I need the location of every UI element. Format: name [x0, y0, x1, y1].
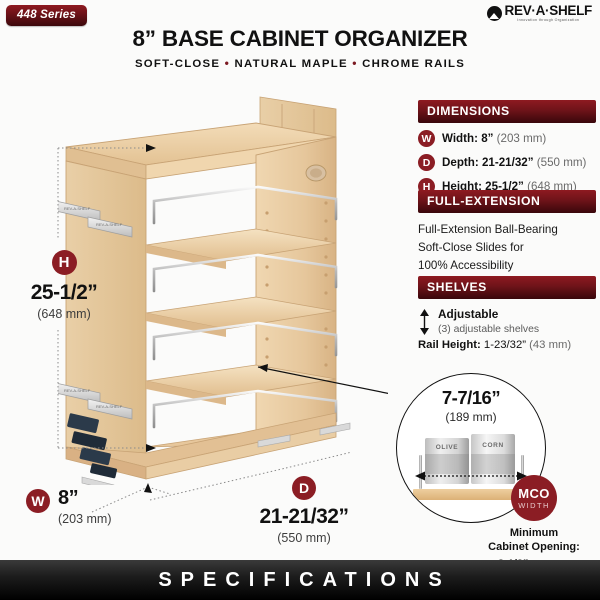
- subtitle-feature-2: NATURAL MAPLE: [235, 58, 348, 70]
- depth-letter-icon: D: [418, 154, 435, 171]
- width-value: 8”: [58, 487, 111, 510]
- subtitle-separator-2: •: [352, 56, 357, 70]
- full-extension-line-3: 100% Accessibility: [418, 257, 596, 275]
- full-extension-line-1: Full-Extension Ball-Bearing: [418, 221, 596, 239]
- page-subtitle: SOFT-CLOSE • NATURAL MAPLE • CHROME RAIL…: [95, 56, 505, 70]
- depth-dimension-label: D 21-21/32” (550 mm): [224, 476, 384, 545]
- dimensions-width-metric: (203 mm): [497, 132, 547, 145]
- mco-badge-icon: MCO WIDTH: [511, 475, 557, 521]
- specifications-banner-text: SPECIFICATIONS: [149, 569, 450, 592]
- dimensions-depth-metric: (550 mm): [537, 156, 587, 169]
- height-value: 25-1/2”: [0, 281, 128, 305]
- mco-caption-line-1: Minimum: [510, 527, 558, 539]
- brand-tagline: Innovation through Organization: [505, 19, 592, 23]
- dimensions-width-value: 8”: [481, 132, 493, 145]
- full-extension-body: Full-Extension Ball-Bearing Soft-Close S…: [418, 221, 596, 275]
- depth-metric: (550 mm): [224, 531, 384, 545]
- height-metric: (648 mm): [0, 307, 128, 321]
- adjustable-text-group: Adjustable (3) adjustable shelves: [438, 308, 539, 335]
- rail-height-row: Rail Height: 1-23/32” (43 mm): [418, 339, 596, 351]
- width-guide-right: [148, 487, 170, 494]
- adjustable-row: Adjustable (3) adjustable shelves: [418, 308, 596, 335]
- svg-text:REV-A-SHELF: REV-A-SHELF: [96, 404, 123, 409]
- dimensions-depth-value: 21-21/32”: [482, 156, 534, 169]
- dimensions-panel-heading: DIMENSIONS: [418, 100, 596, 123]
- dimensions-depth-label: Depth:: [442, 156, 479, 169]
- dimensions-width-text: Width: 8” (203 mm): [442, 132, 546, 145]
- callout-value: 7-7/16”: [397, 387, 545, 409]
- full-extension-panel-heading: FULL-EXTENSION: [418, 190, 596, 213]
- mco-block: MCO WIDTH Minimum Cabinet Opening: 8-1/2…: [480, 475, 588, 570]
- full-extension-line-2: Soft-Close Slides for: [418, 239, 596, 257]
- dimensions-row-depth: D Depth: 21-21/32” (550 mm): [418, 154, 596, 171]
- dimensions-width-label: Width:: [442, 132, 478, 145]
- svg-text:REV-A-SHELF: REV-A-SHELF: [96, 222, 123, 227]
- height-badge-icon: H: [52, 250, 77, 275]
- depth-badge-icon: D: [292, 476, 316, 500]
- shelves-panel: SHELVES Adjustable (3) adjustable shelve…: [418, 276, 596, 351]
- depth-value: 21-21/32”: [224, 505, 384, 529]
- width-text-group: 8” (203 mm): [58, 487, 111, 526]
- mco-caption: Minimum Cabinet Opening:: [480, 527, 588, 555]
- width-badge-icon: W: [26, 489, 50, 513]
- width-dimension-label: W 8” (203 mm): [26, 487, 111, 526]
- adjustable-subtitle: (3) adjustable shelves: [438, 324, 539, 335]
- svg-text:REV-A-SHELF: REV-A-SHELF: [64, 206, 91, 211]
- adjustable-title: Adjustable: [438, 308, 539, 322]
- dimensions-row-width: W Width: 8” (203 mm): [418, 130, 596, 147]
- dimensions-panel: DIMENSIONS W Width: 8” (203 mm) D Depth:…: [418, 100, 596, 195]
- mco-badge-top: MCO: [518, 487, 550, 500]
- subtitle-separator-1: •: [225, 56, 230, 70]
- can-olive-label: OLIVE: [425, 444, 469, 451]
- brand-name: REV·A·SHELF: [505, 4, 592, 18]
- rail-height-value: 1-23/32”: [484, 339, 526, 351]
- spec-sheet-page: 448 Series REV·A·SHELF Innovation throug…: [0, 0, 600, 600]
- full-extension-panel: FULL-EXTENSION Full-Extension Ball-Beari…: [418, 190, 596, 275]
- up-down-arrow-icon: [418, 309, 431, 335]
- page-title: 8” BASE CABINET ORGANIZER: [95, 27, 505, 51]
- brand-text-group: REV·A·SHELF Innovation through Organizat…: [505, 4, 592, 23]
- subtitle-feature-3: CHROME RAILS: [362, 58, 465, 70]
- svg-text:REV-A-SHELF: REV-A-SHELF: [64, 388, 91, 393]
- series-badge: 448 Series: [6, 5, 87, 26]
- width-letter-icon: W: [418, 130, 435, 147]
- title-block: 8” BASE CABINET ORGANIZER SOFT-CLOSE • N…: [95, 27, 505, 70]
- specifications-banner: SPECIFICATIONS: [0, 560, 600, 600]
- rail-height-metric: (43 mm): [529, 339, 571, 351]
- rev-a-shelf-mark-icon: [487, 6, 502, 21]
- dimensions-depth-text: Depth: 21-21/32” (550 mm): [442, 156, 586, 169]
- mco-badge-bottom: WIDTH: [518, 502, 550, 510]
- brand-logo: REV·A·SHELF Innovation through Organizat…: [487, 4, 592, 23]
- shelves-panel-heading: SHELVES: [418, 276, 596, 299]
- shelves-body: Adjustable (3) adjustable shelves Rail H…: [418, 308, 596, 351]
- can-corn-label: CORN: [471, 442, 515, 449]
- rail-height-label: Rail Height:: [418, 339, 481, 351]
- width-metric: (203 mm): [58, 512, 111, 526]
- mco-caption-line-2: Cabinet Opening:: [488, 541, 580, 553]
- subtitle-feature-1: SOFT-CLOSE: [135, 58, 220, 70]
- height-dimension-label: H 25-1/2” (648 mm): [0, 250, 128, 321]
